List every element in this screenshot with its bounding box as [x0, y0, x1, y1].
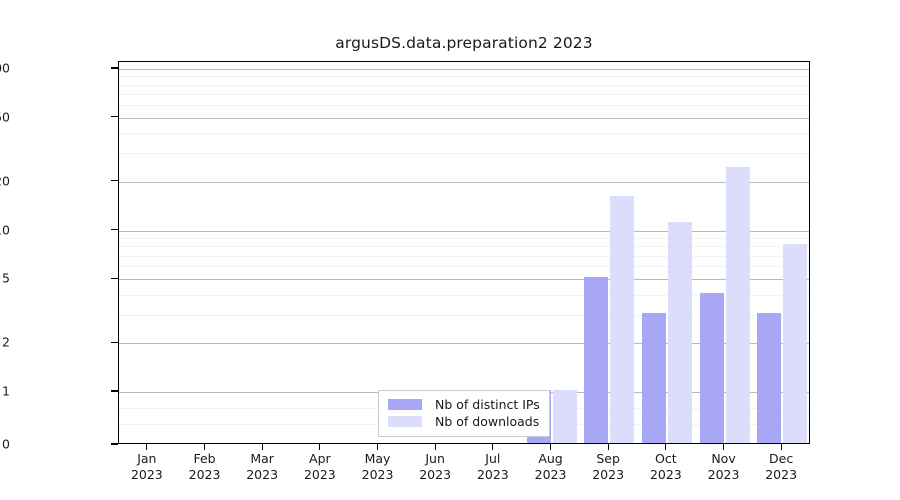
y-tick-label: 0: [2, 437, 10, 452]
x-tick-year: 2023: [349, 467, 407, 483]
y-tick-label: 100: [0, 61, 10, 76]
x-tick-month: Nov: [695, 451, 753, 467]
x-tick-year: 2023: [118, 467, 176, 483]
x-tick-label: Oct2023: [637, 451, 695, 482]
x-tick-mark: [262, 444, 263, 450]
bar-downloads: [726, 167, 750, 443]
x-tick-label: Dec2023: [752, 451, 810, 482]
x-tick-label: Apr2023: [291, 451, 349, 482]
y-tick-label: 10: [0, 222, 10, 237]
major-gridline: [119, 231, 809, 232]
bar-downloads: [610, 196, 634, 444]
y-tick-label: 2: [2, 335, 10, 350]
x-tick-mark: [204, 444, 205, 450]
x-tick-mark: [377, 444, 378, 450]
minor-gridline: [119, 76, 809, 77]
x-tick-month: Jun: [406, 451, 464, 467]
x-tick-mark: [435, 444, 436, 450]
x-tick-month: Dec: [752, 451, 810, 467]
x-tick-mark: [492, 444, 493, 450]
minor-gridline: [119, 238, 809, 239]
x-tick-label: Nov2023: [695, 451, 753, 482]
x-tick-year: 2023: [637, 467, 695, 483]
y-tick-label: 5: [2, 271, 10, 286]
major-gridline: [119, 182, 809, 183]
x-tick-month: May: [349, 451, 407, 467]
x-tick-month: Jul: [464, 451, 522, 467]
y-tick-label: 50: [0, 109, 10, 124]
x-tick-label: Feb2023: [176, 451, 234, 482]
legend-label: Nb of distinct IPs: [435, 397, 540, 412]
chart-screenshot: argusDS.data.preparation2 2023 Nb of dis…: [0, 0, 900, 500]
bar-distinct-ips: [584, 277, 608, 443]
bar-distinct-ips: [642, 313, 666, 443]
x-tick-year: 2023: [233, 467, 291, 483]
minor-gridline: [119, 246, 809, 247]
bar-downloads: [783, 244, 807, 443]
legend-label: Nb of downloads: [435, 414, 539, 429]
minor-gridline: [119, 133, 809, 134]
x-tick-label: May2023: [349, 451, 407, 482]
minor-gridline: [119, 153, 809, 154]
y-tick-mark: [111, 229, 118, 230]
minor-gridline: [119, 85, 809, 86]
minor-gridline: [119, 256, 809, 257]
bar-downloads: [553, 390, 577, 443]
x-tick-month: Mar: [233, 451, 291, 467]
y-tick-mark: [111, 180, 118, 181]
chart-legend: Nb of distinct IPsNb of downloads: [378, 390, 550, 437]
minor-gridline: [119, 94, 809, 95]
x-tick-month: Oct: [637, 451, 695, 467]
legend-item[interactable]: Nb of distinct IPs: [388, 396, 540, 413]
x-tick-mark: [665, 444, 666, 450]
x-tick-month: Aug: [522, 451, 580, 467]
minor-gridline: [119, 266, 809, 267]
y-tick-mark: [111, 342, 118, 343]
x-tick-month: Apr: [291, 451, 349, 467]
x-tick-mark: [550, 444, 551, 450]
x-tick-month: Jan: [118, 451, 176, 467]
x-tick-year: 2023: [579, 467, 637, 483]
x-tick-mark: [146, 444, 147, 450]
bar-distinct-ips: [757, 313, 781, 443]
x-tick-year: 2023: [752, 467, 810, 483]
x-tick-label: Jun2023: [406, 451, 464, 482]
major-gridline: [119, 279, 809, 280]
y-tick-mark: [111, 278, 118, 279]
x-tick-month: Sep: [579, 451, 637, 467]
y-tick-mark: [111, 67, 118, 68]
x-tick-label: Sep2023: [579, 451, 637, 482]
y-tick-mark: [111, 390, 118, 391]
x-tick-year: 2023: [695, 467, 753, 483]
x-tick-month: Feb: [176, 451, 234, 467]
y-tick-mark: [111, 116, 118, 117]
bar-distinct-ips: [700, 293, 724, 443]
x-tick-year: 2023: [406, 467, 464, 483]
x-tick-year: 2023: [464, 467, 522, 483]
x-tick-mark: [319, 444, 320, 450]
chart-title: argusDS.data.preparation2 2023: [118, 34, 810, 52]
y-tick-label: 1: [2, 384, 10, 399]
x-tick-label: Mar2023: [233, 451, 291, 482]
x-tick-mark: [608, 444, 609, 450]
plot-area: [118, 61, 810, 444]
bar-downloads: [668, 222, 692, 443]
x-tick-label: Aug2023: [522, 451, 580, 482]
legend-item[interactable]: Nb of downloads: [388, 413, 540, 430]
x-tick-year: 2023: [176, 467, 234, 483]
legend-swatch-icon: [388, 416, 422, 427]
legend-swatch-icon: [388, 399, 422, 410]
x-tick-mark: [723, 444, 724, 450]
y-tick-label: 20: [0, 173, 10, 188]
x-tick-label: Jul2023: [464, 451, 522, 482]
y-tick-mark: [111, 443, 118, 444]
x-tick-mark: [781, 444, 782, 450]
major-gridline: [119, 69, 809, 70]
x-tick-year: 2023: [522, 467, 580, 483]
plot-inner: [119, 62, 809, 443]
x-tick-label: Jan2023: [118, 451, 176, 482]
major-gridline: [119, 118, 809, 119]
minor-gridline: [119, 105, 809, 106]
x-tick-year: 2023: [291, 467, 349, 483]
